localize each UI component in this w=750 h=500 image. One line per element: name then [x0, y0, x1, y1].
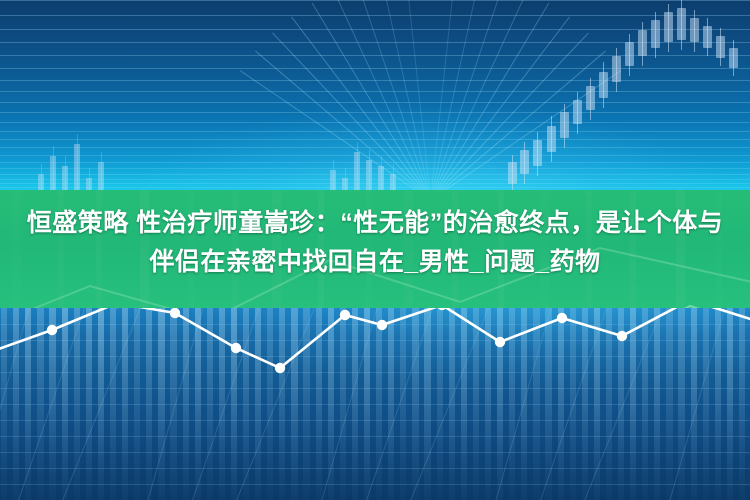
band-line-overlay [0, 190, 750, 310]
index-polyline [0, 308, 750, 500]
banner-image: 恒盛策略 性治疗师童嵩珍：“性无能”的治愈终点，是让个体与 伴侣在亲密中找回自在… [0, 0, 750, 500]
rising-candlestick-series [0, 0, 750, 200]
green-headline-band [0, 190, 750, 310]
lower-chart-panel [0, 308, 750, 500]
